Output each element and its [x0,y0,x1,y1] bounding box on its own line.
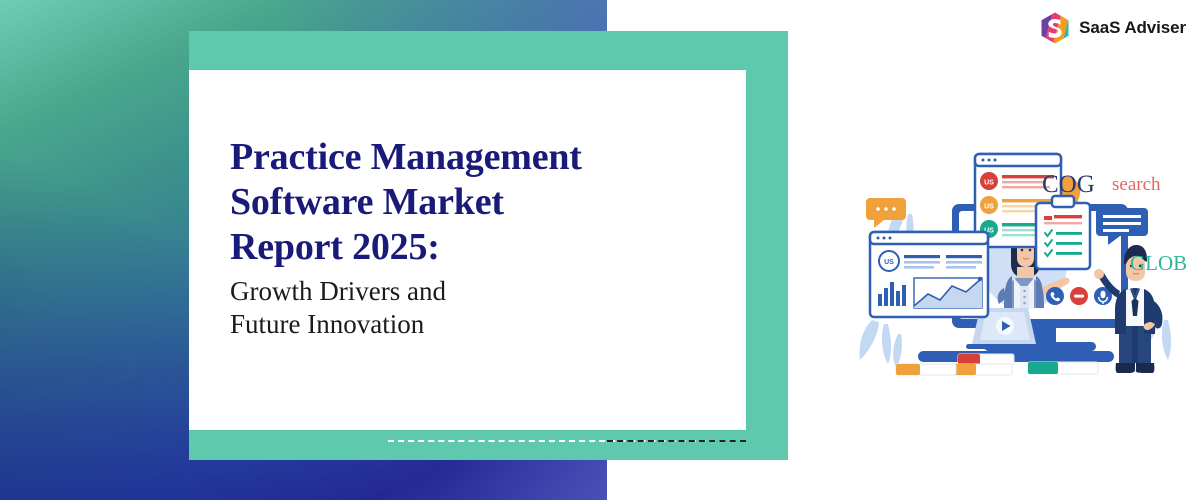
call-controls [1046,287,1112,305]
hero-text-card: Practice Management Software Market Repo… [189,70,746,430]
raised-hand [1094,269,1104,279]
svg-text:US: US [884,259,894,266]
page-title-line-2: Software Market [230,180,710,225]
label-globe: GLOBE [1130,251,1186,275]
hero-text-block: Practice Management Software Market Repo… [230,135,710,341]
page-subtitle-line-1: Growth Drivers and [230,275,710,308]
phone-icon [1046,287,1064,305]
page-title: Practice Management Software Market Repo… [230,135,710,269]
marketing-banner: Practice Management Software Market Repo… [0,0,1200,500]
page-title-line-3: Report 2025: [230,225,710,270]
svg-text:US: US [984,180,994,187]
page-title-line-1: Practice Management [230,135,710,180]
clipboard [1036,196,1090,269]
label-cog: COG [1042,171,1095,198]
brand-logo[interactable]: SaaS Adviser [1040,12,1186,44]
hero-illustration: US US US [856,148,1186,384]
label-search: search [1112,174,1161,195]
brand-name: SaaS Adviser [1079,18,1186,38]
page-subtitle-line-2: Future Innovation [230,308,710,341]
desk-surface [918,351,1114,362]
page-subtitle: Growth Drivers and Future Innovation [230,275,710,341]
dashboard-card: US [870,232,988,317]
hexagon-s-logo-icon [1040,12,1070,44]
svg-text:US: US [984,204,994,211]
dashed-divider-overlay [607,440,746,442]
